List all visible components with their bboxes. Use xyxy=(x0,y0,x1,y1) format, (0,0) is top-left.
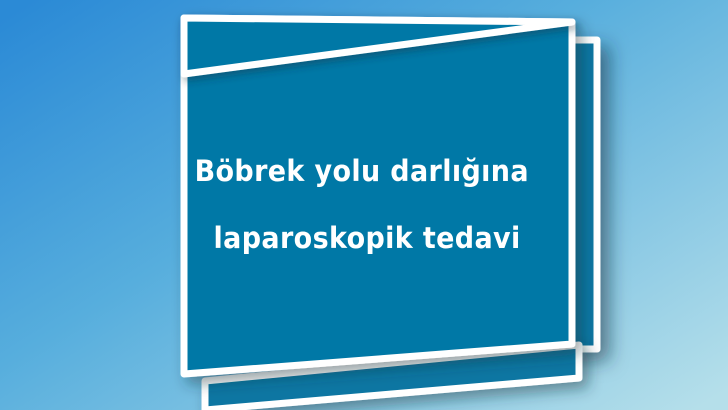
main-panel-group xyxy=(184,18,572,374)
banner-stage: Böbrek yolu darlığına laparoskopik tedav… xyxy=(0,0,728,410)
main-panel xyxy=(184,18,572,374)
banner-graphic xyxy=(0,0,728,410)
